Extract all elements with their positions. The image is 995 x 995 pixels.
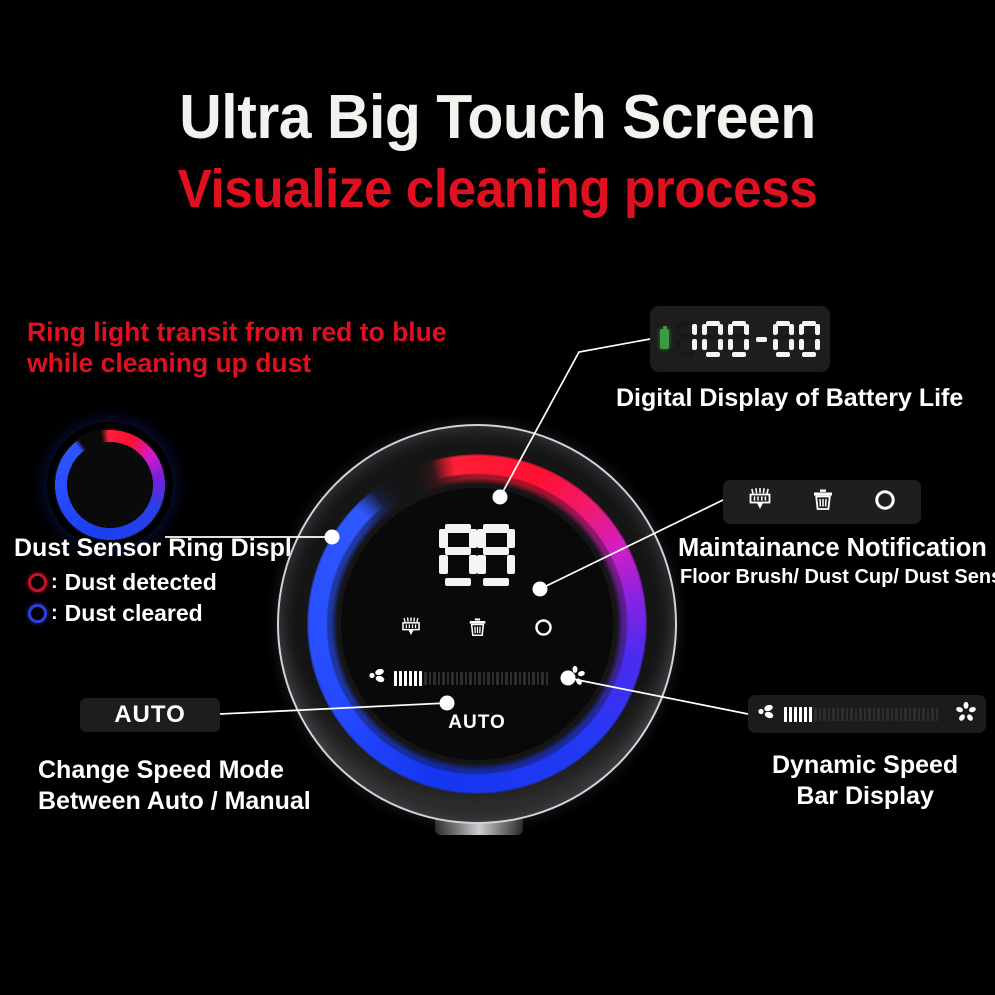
floor-brush-icon[interactable] xyxy=(400,617,422,643)
annotation-speed-line2: Bar Display xyxy=(772,781,958,812)
speed-bar-segment xyxy=(832,708,835,721)
annotation-auto-line2: Between Auto / Manual xyxy=(38,786,311,817)
speed-bar-segment xyxy=(891,708,894,721)
fan-large-icon xyxy=(564,665,586,692)
speed-bar-segment xyxy=(514,672,517,685)
annotation-maintenance-sub: Floor Brush/ Dust Cup/ Dust Sensor xyxy=(680,566,995,589)
speed-bar-segment xyxy=(483,672,486,685)
speed-bar-segment xyxy=(394,671,397,686)
segment-g xyxy=(802,334,816,339)
speed-bar-segment xyxy=(904,708,907,721)
speed-bar-segment xyxy=(900,708,903,721)
segment-d xyxy=(445,578,470,587)
segment-d xyxy=(802,352,816,357)
segment-c xyxy=(692,339,697,350)
legend-item-dust-detected: : Dust detected xyxy=(28,568,217,596)
segment-g xyxy=(706,334,720,339)
speed-bar-segment xyxy=(438,672,441,685)
annotation-speed-bar: Dynamic Speed Bar Display xyxy=(772,750,958,812)
floor-brush-icon[interactable] xyxy=(747,488,773,517)
segment-g xyxy=(680,334,694,339)
speed-bar-segment xyxy=(510,672,513,685)
speed-bar-segment xyxy=(859,708,862,721)
legend-label: Dust cleared xyxy=(65,600,203,627)
speed-bar-segment xyxy=(447,672,450,685)
speed-bar-segment xyxy=(424,672,427,685)
legend-colon: : xyxy=(51,571,58,594)
dynamic-speed-bar-chip xyxy=(748,695,986,733)
seven-segment-digit xyxy=(477,524,515,586)
speed-bar-segment xyxy=(882,708,885,721)
seven-segment-digit xyxy=(702,321,723,357)
segment-b xyxy=(815,324,820,335)
auto-chip-label: AUTO xyxy=(114,701,186,729)
speed-bar-segment xyxy=(809,707,812,722)
speed-bar-segment xyxy=(532,672,535,685)
speed-bar-segment xyxy=(873,708,876,721)
speed-bar-track[interactable] xyxy=(784,707,948,722)
segment-c xyxy=(718,339,723,350)
speed-bar-segment xyxy=(819,708,822,721)
speed-bar-segment xyxy=(456,672,459,685)
segment-a xyxy=(445,524,470,533)
speed-bar-segment xyxy=(850,708,853,721)
speed-bar-segment xyxy=(478,672,481,685)
speed-bar-segment xyxy=(501,672,504,685)
speed-bar-segment xyxy=(528,672,531,685)
speed-bar-segment xyxy=(419,671,422,686)
ring-icon-blue xyxy=(28,604,47,623)
segment-a xyxy=(802,321,816,326)
segment-e xyxy=(773,339,778,350)
segment-e xyxy=(477,555,486,574)
speed-bar-segment xyxy=(465,672,468,685)
segment-e xyxy=(799,339,804,350)
segment-d xyxy=(776,352,790,357)
segment-d xyxy=(483,578,508,587)
speed-bar-segment xyxy=(460,672,463,685)
speed-bar-segment xyxy=(841,708,844,721)
speed-bar-segment xyxy=(789,707,792,722)
segment-a xyxy=(776,321,790,326)
ring-preview-arc xyxy=(53,428,167,542)
segment-g xyxy=(776,334,790,339)
legend-label: Dust detected xyxy=(65,569,217,596)
annotation-auto-line1: Change Speed Mode xyxy=(38,755,311,786)
annotation-ring-light-line1: Ring light transit from red to blue xyxy=(27,317,447,348)
device-screen[interactable]: AUTO xyxy=(341,488,613,760)
dust-cup-icon[interactable] xyxy=(812,488,834,517)
speed-bar-segment xyxy=(492,672,495,685)
segment-e xyxy=(702,339,707,350)
speed-bar-track[interactable] xyxy=(394,671,558,686)
screen-maintenance-icons xyxy=(400,617,554,643)
dust-sensor-icon[interactable] xyxy=(873,488,897,517)
seven-segment-digit xyxy=(754,321,767,357)
annotation-ring-light-line2: while cleaning up dust xyxy=(27,348,447,379)
segment-f xyxy=(477,529,486,548)
speed-bar-segment xyxy=(404,671,407,686)
screen-auto-label: AUTO xyxy=(448,712,505,734)
speed-bar-segment xyxy=(429,672,432,685)
segment-b xyxy=(789,324,794,335)
speed-bar-segment xyxy=(451,672,454,685)
speed-bar-segment xyxy=(918,708,921,721)
seven-segment-digit xyxy=(799,321,820,357)
page-subtitle: Visualize cleaning process xyxy=(25,158,970,220)
speed-bar-segment xyxy=(541,672,544,685)
annotation-speed-line1: Dynamic Speed xyxy=(772,750,958,781)
vacuum-touch-screen-device: AUTO xyxy=(277,424,677,824)
speed-bar-segment xyxy=(546,672,549,685)
fan-small-icon xyxy=(368,667,388,690)
speed-bar-segment xyxy=(523,672,526,685)
speed-bar-segment xyxy=(846,708,849,721)
speed-bar-segment xyxy=(496,672,499,685)
screen-speed-bar[interactable] xyxy=(368,665,586,692)
speed-bar-segment xyxy=(442,672,445,685)
speed-bar-segment xyxy=(814,708,817,721)
speed-bar-segment xyxy=(909,708,912,721)
segment-a xyxy=(483,524,508,533)
segment-g xyxy=(732,334,746,339)
speed-bar-segment xyxy=(936,708,939,721)
speed-bar-segment xyxy=(877,708,880,721)
legend-item-dust-cleared: : Dust cleared xyxy=(28,599,217,627)
speed-bar-segment xyxy=(823,708,826,721)
speed-bar-segment xyxy=(886,708,889,721)
seven-segment-digit xyxy=(728,321,749,357)
speed-bar-segment xyxy=(913,708,916,721)
speed-bar-segment xyxy=(433,672,436,685)
annotation-dust-sensor: Dust Sensor Ring Display xyxy=(14,534,320,563)
seven-segment-digit xyxy=(439,524,477,586)
screen-battery-digits xyxy=(439,524,515,591)
segment-e xyxy=(676,339,681,350)
segment-e xyxy=(728,339,733,350)
segment-e xyxy=(439,555,448,574)
segment-d xyxy=(732,352,746,357)
annotation-auto-mode: Change Speed Mode Between Auto / Manual xyxy=(38,755,311,818)
speed-bar-segment xyxy=(519,672,522,685)
segment-c xyxy=(744,339,749,350)
speed-bar-segment xyxy=(409,671,412,686)
segment-b xyxy=(469,529,478,548)
segment-b xyxy=(692,324,697,335)
segment-d xyxy=(680,352,694,357)
fan-large-icon xyxy=(955,701,977,728)
speed-bar-segment xyxy=(837,708,840,721)
speed-bar-segment xyxy=(537,672,540,685)
segment-c xyxy=(507,555,516,574)
speed-bar-segment xyxy=(927,708,930,721)
speed-bar-segment xyxy=(799,707,802,722)
annotation-battery: Digital Display of Battery Life xyxy=(616,384,963,413)
speed-bar-segment xyxy=(505,672,508,685)
speed-bar-segment xyxy=(864,708,867,721)
fan-small-icon xyxy=(757,703,777,726)
annotation-ring-light: Ring light transit from red to blue whil… xyxy=(27,317,447,378)
speed-bar-segment xyxy=(895,708,898,721)
speed-bar-segment xyxy=(414,671,417,686)
speed-bar-segment xyxy=(922,708,925,721)
segment-c xyxy=(469,555,478,574)
dust-sensor-ring-preview xyxy=(53,428,167,542)
battery-digits xyxy=(676,321,819,357)
speed-bar-segment xyxy=(931,708,934,721)
speed-bar-segment xyxy=(399,671,402,686)
legend-colon: : xyxy=(51,602,58,625)
speed-bar-segment xyxy=(474,672,477,685)
segment-g xyxy=(445,547,470,556)
segment-b xyxy=(507,529,516,548)
infographic-canvas: Ultra Big Touch Screen Visualize cleanin… xyxy=(0,0,995,995)
speed-bar-segment xyxy=(828,708,831,721)
segment-b xyxy=(718,324,723,335)
speed-bar-segment xyxy=(469,672,472,685)
battery-display-chip xyxy=(650,306,830,372)
speed-bar-segment xyxy=(855,708,858,721)
speed-bar-segment xyxy=(804,707,807,722)
auto-mode-chip[interactable]: AUTO xyxy=(80,698,220,732)
seven-segment-digit xyxy=(676,321,697,357)
segment-d xyxy=(706,352,720,357)
speed-bar-segment xyxy=(487,672,490,685)
maintenance-notification-chip xyxy=(723,480,921,524)
page-title: Ultra Big Touch Screen xyxy=(25,82,970,153)
dust-sensor-legend: : Dust detected : Dust cleared xyxy=(28,568,217,630)
segment-g xyxy=(483,547,508,556)
speed-bar-segment xyxy=(784,707,787,722)
seven-segment-digit xyxy=(773,321,794,357)
segment-f xyxy=(439,529,448,548)
segment-c xyxy=(789,339,794,350)
dust-cup-icon[interactable] xyxy=(468,617,487,643)
speed-bar-segment xyxy=(794,707,797,722)
speed-bar-segment xyxy=(868,708,871,721)
segment-c xyxy=(815,339,820,350)
annotation-maintenance-title: Maintainance Notification xyxy=(678,534,987,564)
battery-icon xyxy=(660,329,669,349)
dust-sensor-icon[interactable] xyxy=(533,617,554,643)
ring-icon-red xyxy=(28,573,47,592)
segment-b xyxy=(744,324,749,335)
